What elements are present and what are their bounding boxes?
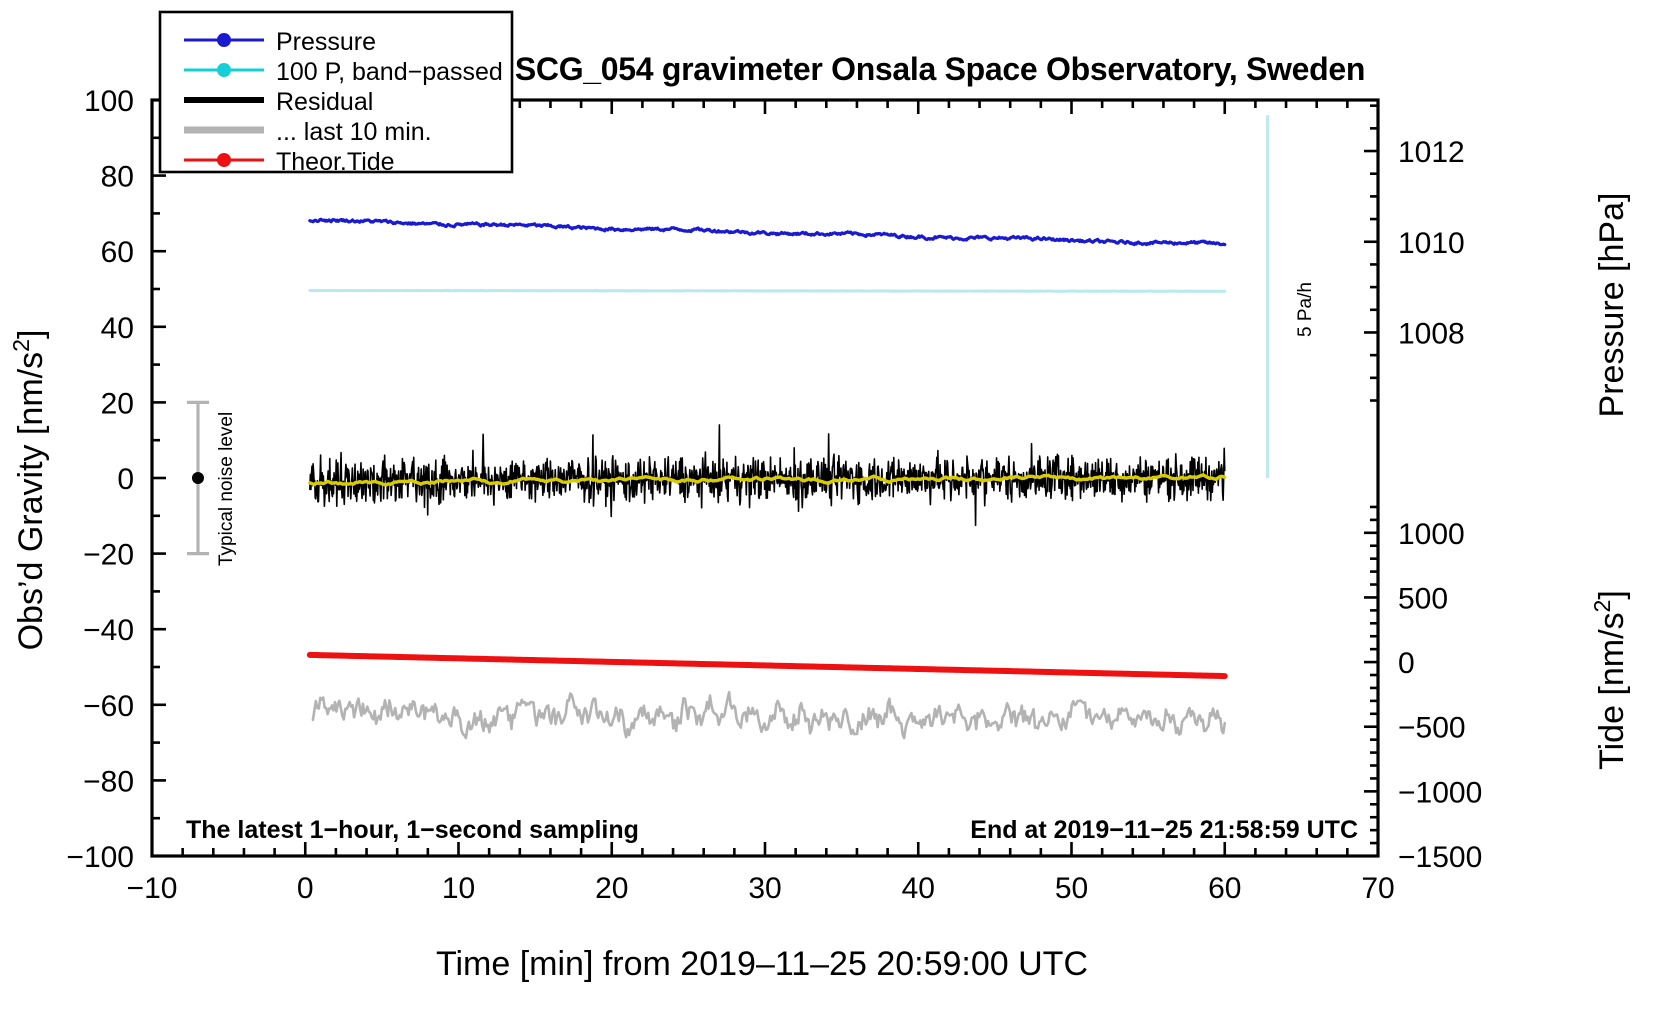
x-axis-title: Time [min] from 2019–11–25 20:59:00 UTC bbox=[436, 945, 1088, 983]
x-tick-label: 30 bbox=[748, 872, 781, 905]
y-tick-label: −80 bbox=[83, 765, 134, 798]
y-axis-title-right-pressure: Pressure [hPa] bbox=[1593, 193, 1631, 418]
gravimeter-chart: −10010203040506070−100−80−60−40−20020406… bbox=[0, 0, 1660, 1020]
y-tick-label: 100 bbox=[84, 85, 134, 118]
footer-right-note: End at 2019−11−25 21:58:59 UTC bbox=[970, 816, 1358, 844]
legend-label-5: Theor.Tide bbox=[276, 148, 395, 176]
tide-tick-label: −1000 bbox=[1398, 776, 1482, 809]
legend-label-1: Pressure bbox=[276, 28, 376, 56]
y-tick-label: 20 bbox=[101, 387, 134, 420]
y-tick-label: −60 bbox=[83, 690, 134, 723]
x-tick-label: 0 bbox=[297, 872, 314, 905]
tide-tick-label: 500 bbox=[1398, 582, 1448, 615]
y-tick-label: 40 bbox=[101, 312, 134, 345]
pressure-tick-label: 1010 bbox=[1398, 227, 1465, 260]
x-tick-label: 40 bbox=[902, 872, 935, 905]
x-tick-label: −10 bbox=[127, 872, 178, 905]
y-tick-label: 80 bbox=[101, 161, 134, 194]
x-tick-label: 70 bbox=[1361, 872, 1394, 905]
legend-marker-1 bbox=[217, 33, 231, 47]
x-tick-label: 10 bbox=[442, 872, 475, 905]
legend-label-3: Residual bbox=[276, 88, 373, 116]
x-tick-label: 60 bbox=[1208, 872, 1241, 905]
chart-title: SCG_054 gravimeter Onsala Space Observat… bbox=[515, 51, 1365, 87]
pressure-scale-label: 5 Pa/h bbox=[1295, 282, 1316, 337]
pressure-tick-label: 1012 bbox=[1398, 136, 1465, 169]
footer-left-note: The latest 1−hour, 1−second sampling bbox=[186, 816, 639, 844]
chart-canvas: −10010203040506070−100−80−60−40−20020406… bbox=[0, 0, 1660, 1020]
noise-bar-dot bbox=[192, 472, 204, 484]
series-100-p-band-passed bbox=[310, 290, 1225, 291]
x-tick-label: 50 bbox=[1055, 872, 1088, 905]
legend: Pressure100 P, band−passedResidual... la… bbox=[160, 12, 512, 176]
y-axis-title-right-tide: Tide [nm/s2] bbox=[1589, 590, 1631, 770]
y-tick-label: −40 bbox=[83, 614, 134, 647]
tide-tick-label: −500 bbox=[1398, 712, 1466, 745]
y-tick-label: 0 bbox=[117, 463, 134, 496]
tide-tick-label: −1500 bbox=[1398, 841, 1482, 874]
y-tick-label: −20 bbox=[83, 539, 134, 572]
x-tick-label: 20 bbox=[595, 872, 628, 905]
tide-tick-label: 0 bbox=[1398, 647, 1415, 680]
legend-label-4: ... last 10 min. bbox=[276, 118, 432, 146]
y-axis-title-left: Obs’d Gravity [nm/s2] bbox=[8, 330, 50, 651]
y-tick-label: 60 bbox=[101, 236, 134, 269]
y-tick-label: −100 bbox=[66, 841, 134, 874]
pressure-tick-label: 1008 bbox=[1398, 317, 1465, 350]
legend-marker-5 bbox=[217, 153, 231, 167]
legend-marker-2 bbox=[217, 63, 231, 77]
legend-label-2: 100 P, band−passed bbox=[276, 58, 503, 86]
tide-tick-label: 1000 bbox=[1398, 518, 1465, 551]
noise-level-label: Typical noise level bbox=[216, 412, 237, 566]
